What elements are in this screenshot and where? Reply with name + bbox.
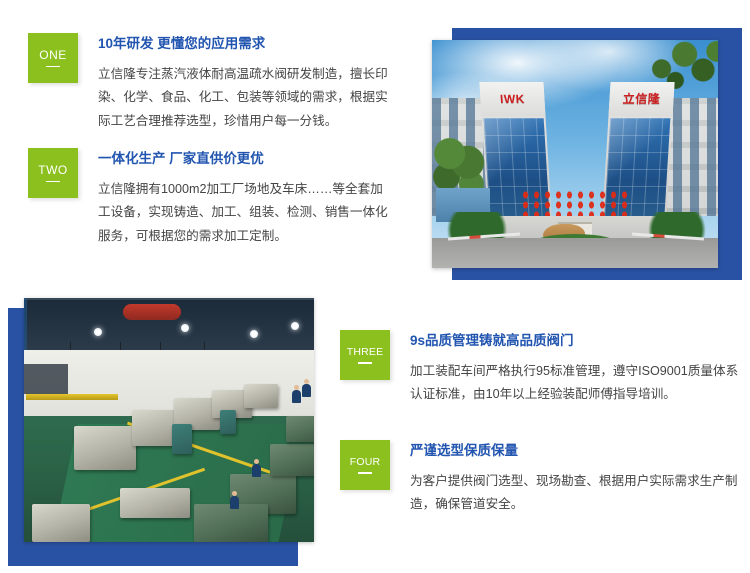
worker-figure [230, 496, 239, 509]
feature-one-text: 10年研发 更懂您的应用需求 立信隆专注蒸汽液体耐高温疏水阀研发制造，擅长印染、… [98, 33, 388, 133]
coolant-tank [172, 424, 192, 454]
feature-block-one: ONE 10年研发 更懂您的应用需求 立信隆专注蒸汽液体耐高温疏水阀研发制造，擅… [28, 33, 388, 133]
feature-one-title: 10年研发 更懂您的应用需求 [98, 36, 388, 52]
badge-four-label: FOUR [348, 457, 383, 468]
feature-two-text: 一体化生产 厂家直供价更优 立信隆拥有1000m2加工厂场地及车床……等全套加工… [98, 148, 388, 248]
workbench [120, 488, 190, 518]
tower-left-cap: IWK [479, 82, 545, 116]
factory-photo-wrap [8, 298, 320, 566]
feature-three-title: 9s品质管理铸就高品质阀门 [410, 333, 740, 349]
ceiling-lamp-icon [181, 324, 189, 332]
feature-four-text: 严谨选型保质保量 为客户提供阀门选型、现场勘查、根据用户实际需求生产制造，确保管… [410, 440, 740, 517]
cnc-machine [244, 384, 278, 408]
red-duct [123, 304, 181, 320]
badge-two-label: TWO [36, 164, 70, 176]
workbench [32, 504, 90, 542]
badge-underline-icon [358, 472, 372, 474]
ceiling-lamp-icon [94, 328, 102, 336]
lathe-machine [286, 416, 314, 442]
building-sign-left: IWK [500, 93, 526, 105]
feature-block-three: THREE 9s品质管理铸就高品质阀门 加工装配车间严格执行95标准管理，遵守I… [340, 330, 740, 407]
badge-four: FOUR [340, 440, 390, 490]
feature-two-body: 立信隆拥有1000m2加工厂场地及车床……等全套加工设备，实现铸造、加工、组装、… [98, 178, 388, 248]
feature-block-two: TWO 一体化生产 厂家直供价更优 立信隆拥有1000m2加工厂场地及车床……等… [28, 148, 388, 248]
building-photo: IWK 立信隆 [432, 40, 718, 268]
factory-roof [24, 298, 314, 350]
cnc-machine [74, 426, 136, 470]
building-sign-right: 立信隆 [622, 93, 660, 105]
worker-figure [302, 384, 311, 397]
badge-underline-icon [46, 181, 60, 183]
feature-four-title: 严谨选型保质保量 [410, 443, 740, 459]
badge-underline-icon [358, 362, 372, 364]
badge-one-label: ONE [37, 49, 69, 61]
feature-one-body: 立信隆专注蒸汽液体耐高温疏水阀研发制造，擅长印染、化学、食品、化工、包装等领域的… [98, 63, 388, 133]
badge-three: THREE [340, 330, 390, 380]
tower-right-cap: 立信隆 [609, 82, 675, 116]
gantry-crane [26, 394, 118, 400]
ceiling-lamp-icon [291, 322, 299, 330]
feature-block-four: FOUR 严谨选型保质保量 为客户提供阀门选型、现场勘查、根据用户实际需求生产制… [340, 440, 740, 517]
badge-three-label: THREE [345, 347, 386, 358]
lathe-machine [194, 504, 268, 542]
lathe-machine [270, 444, 314, 476]
feature-three-body: 加工装配车间严格执行95标准管理，遵守ISO9001质量体系认证标准，由10年以… [410, 360, 740, 407]
building-photo-wrap: IWK 立信隆 [432, 28, 742, 280]
worker-figure [252, 464, 261, 477]
feature-three-text: 9s品质管理铸就高品质阀门 加工装配车间严格执行95标准管理，遵守ISO9001… [410, 330, 740, 407]
feature-four-body: 为客户提供阀门选型、现场勘查、根据用户实际需求生产制造，确保管道安全。 [410, 470, 740, 517]
driveway [432, 238, 718, 268]
factory-photo [24, 298, 314, 542]
worker-figure [292, 390, 301, 403]
feature-two-title: 一体化生产 厂家直供价更优 [98, 151, 388, 167]
advantages-section: ONE 10年研发 更懂您的应用需求 立信隆专注蒸汽液体耐高温疏水阀研发制造，擅… [0, 0, 750, 573]
badge-one: ONE [28, 33, 78, 83]
coolant-tank [220, 410, 236, 434]
badge-underline-icon [46, 66, 60, 68]
badge-two: TWO [28, 148, 78, 198]
